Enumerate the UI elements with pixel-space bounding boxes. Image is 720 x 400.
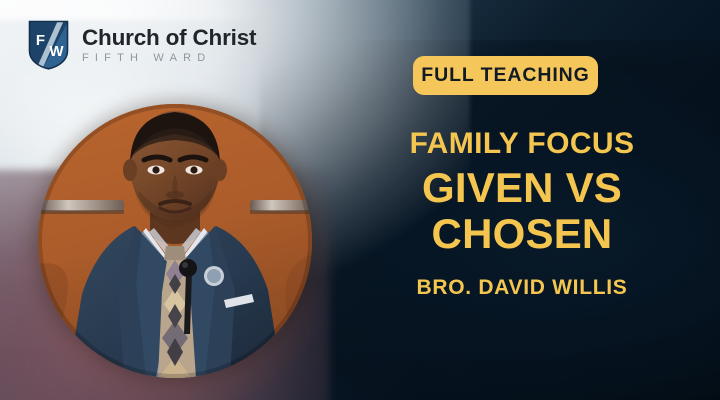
brand-logo-lockup: F W Church of Christ FIFTH WARD (28, 20, 256, 70)
speaker-name: BRO. DAVID WILLIS (340, 276, 704, 299)
fw-shield-logo-icon: F W (28, 20, 69, 70)
brand-wordmark: Church of Christ FIFTH WARD (82, 26, 256, 65)
svg-text:W: W (49, 43, 64, 60)
headline-line-2: CHOSEN (340, 211, 704, 257)
full-teaching-badge[interactable]: FULL TEACHING (413, 56, 598, 95)
headline-line-1: GIVEN VS (340, 165, 704, 211)
brand-subtitle: FIFTH WARD (82, 52, 256, 64)
svg-text:F: F (36, 32, 45, 49)
speaker-portrait (38, 104, 312, 378)
headline-kicker: FAMILY FOCUS (340, 128, 704, 160)
full-teaching-badge-label: FULL TEACHING (421, 66, 589, 86)
brand-title: Church of Christ (82, 26, 256, 50)
sermon-thumbnail: F W Church of Christ FIFTH WARD (0, 0, 720, 400)
headline-block: FAMILY FOCUS GIVEN VS CHOSEN BRO. DAVID … (340, 128, 704, 299)
